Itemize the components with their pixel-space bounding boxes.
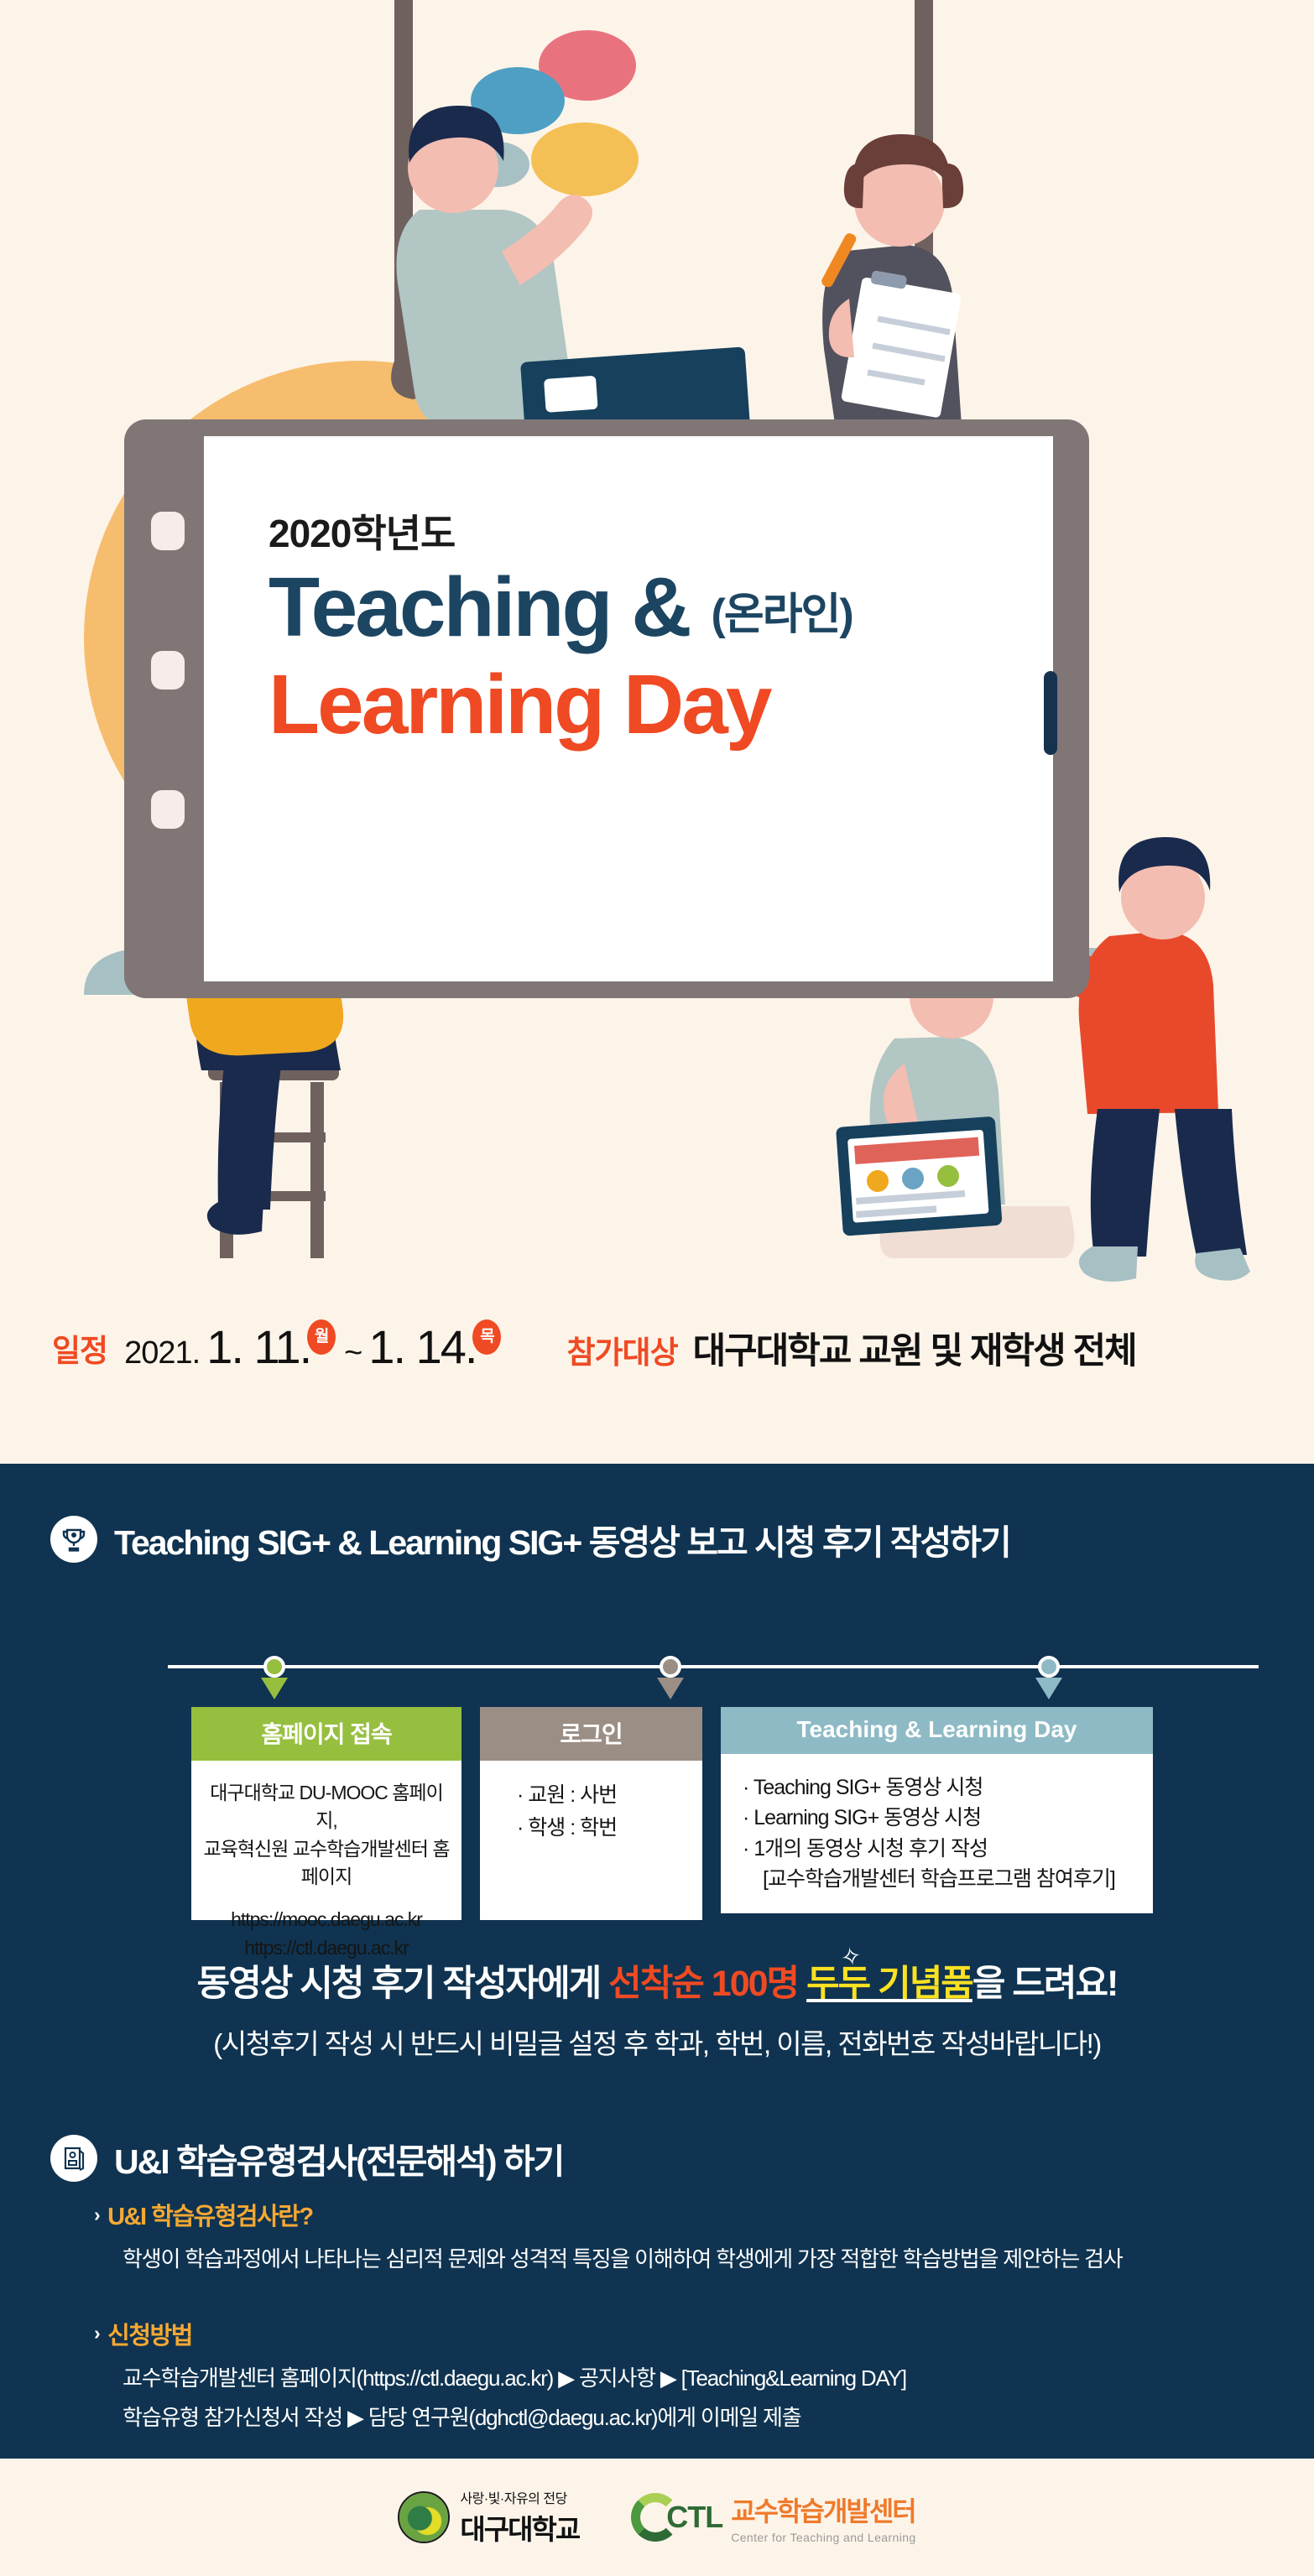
schedule-year: 2021. [124,1335,200,1371]
day-badge-end: 목 [472,1319,501,1355]
ctl-korean-name: 교수학습개발센터 [731,2490,915,2529]
gift-yellow-highlight: 두두 기념품 [806,1964,972,2004]
step-card-homepage: 홈페이지 접속 대구대학교 DU-MOOC 홈페이지, 교육혁신원 교수학습개발… [191,1707,461,1920]
university-name: 대구대학교 [460,2507,579,2547]
section-1-header: Teaching SIG+ & Learning SIG+ 동영상 보고 시청 … [0,1464,1314,1564]
ctl-english-name: Center for Teaching and Learning [731,2531,915,2544]
gift-banner: 동영상 시청 후기 작성자에게 선착순 100명 두두 기념품을 드려요! (시… [0,1954,1314,2062]
step-1-body: 대구대학교 DU-MOOC 홈페이지, 교육혁신원 교수학습개발센터 홈페이지 … [191,1761,461,1920]
step-dot-1 [263,1656,285,1678]
device-hole [151,512,185,550]
title-line-1: Teaching & [269,564,690,652]
info-bar: 일정 2021. 1. 11. 월 ~ 1. 14. 목 참가대상 대구대학교 … [0,1302,1314,1394]
footer-logos: 사랑·빛·자유의 전당 대구대학교 CTL 교수학습개발센터 Center fo… [0,2459,1314,2576]
date-range-separator: ~ [344,1335,362,1371]
ui-apply-heading-text: 신청방법 [107,2316,192,2351]
ui-apply-heading: › 신청방법 [94,2316,1314,2351]
hero-illustration-area: 2020학년도 Teaching & (온라인) Learning Day [0,0,1314,1464]
step-3-line-2: · Learning SIG+ 동영상 시청 [743,1803,1141,1833]
date-end: 1. 14. [368,1319,476,1374]
step-rail [168,1665,1259,1668]
audience-value: 대구대학교 교원 및 재학생 전체 [693,1322,1136,1374]
online-tag: (온라인) [712,579,853,652]
step-3-heading: Teaching & Learning Day [721,1707,1153,1754]
step-2-line-2: · 학생 : 학번 [517,1812,691,1845]
section-1-title: Teaching SIG+ & Learning SIG+ 동영상 보고 시청 … [114,1514,1010,1564]
audience-label: 참가대상 [566,1327,677,1372]
section-2: U&I 학습유형검사(전문해석) 하기 › U&I 학습유형검사란? 학생이 학… [0,2133,1314,2436]
step-3-body: · Teaching SIG+ 동영상 시청 · Learning SIG+ 동… [721,1754,1153,1913]
gift-orange-highlight: 선착순 100명 [608,1964,798,2004]
daegu-university-wordmark: 사랑·빛·자유의 전당 대구대학교 [460,2487,579,2547]
step-3-line-3: · 1개의 동영상 시청 후기 작성 [743,1834,1141,1864]
daegu-university-logo: 사랑·빛·자유의 전당 대구대학교 [398,2487,579,2547]
device-hole [151,790,185,829]
ui-definition-text: 학생이 학습과정에서 나타나는 심리적 문제와 성격적 특징을 이해하여 학생에… [94,2242,1314,2277]
step-dot-2 [660,1656,681,1678]
step-card-tl-day: Teaching & Learning Day · Teaching SIG+ … [721,1707,1153,1913]
ui-group-apply: › 신청방법 교수학습개발센터 홈페이지(https://ctl.daegu.a… [0,2303,1314,2436]
poster-root: 2020학년도 Teaching & (온라인) Learning Day 일정… [0,0,1314,2576]
step-card-login: 로그인 · 교원 : 사번 · 학생 : 학번 [480,1707,702,1920]
title-first-row: Teaching & (온라인) [269,564,1108,652]
ui-group-definition: › U&I 학습유형검사란? 학생이 학습과정에서 나타나는 심리적 문제와 성… [0,2183,1314,2277]
trophy-icon [50,1516,97,1563]
step-boxes: 홈페이지 접속 대구대학교 DU-MOOC 홈페이지, 교육혁신원 교수학습개발… [191,1707,1265,1920]
chevron-right-icon: › [94,2204,99,2226]
day-badge-start: 월 [307,1319,336,1355]
ctl-names: 교수학습개발센터 Center for Teaching and Learnin… [731,2490,915,2544]
section-1: Teaching SIG+ & Learning SIG+ 동영상 보고 시청 … [0,1464,1314,1564]
ui-definition-heading: › U&I 학습유형검사란? [94,2197,1314,2232]
step-3-subnote: [교수학습개발센터 학습프로그램 참여후기] [743,1864,1141,1894]
step-2-line-1: · 교원 : 사번 [517,1779,691,1812]
step-arrow-3 [1035,1678,1062,1699]
step-arrow-1 [261,1678,288,1699]
step-2-heading: 로그인 [480,1707,702,1761]
ctl-abbreviation: CTL [666,2500,722,2535]
step-2-body: · 교원 : 사번 · 학생 : 학번 [480,1761,702,1920]
gift-suffix: 을 드려요! [972,1964,1118,2004]
step-arrow-2 [657,1678,684,1699]
step-1-line-2: 교육혁신원 교수학습개발센터 홈페이지 [203,1835,450,1892]
gift-prefix: 동영상 시청 후기 작성자에게 [197,1964,609,2004]
ui-apply-line-1[interactable]: 교수학습개발센터 홈페이지(https://ctl.daegu.ac.kr) ▶… [94,2361,1314,2396]
ui-apply-line-2[interactable]: 학습유형 참가신청서 작성 ▶ 담당 연구원(dghctl@daegu.ac.k… [94,2401,1314,2436]
date-start: 1. 11. [206,1319,310,1374]
ui-definition-heading-text: U&I 학습유형검사란? [107,2197,312,2232]
section-2-header: U&I 학습유형검사(전문해석) 하기 [0,2133,1314,2183]
schedule-label: 일정 [52,1325,107,1371]
step-dot-3 [1038,1656,1060,1678]
chevron-right-icon: › [94,2322,99,2344]
daegu-university-emblem-icon [398,2491,450,2543]
gift-note: (시청후기 작성 시 반드시 비밀글 설정 후 학과, 학번, 이름, 전화번호… [0,2022,1314,2062]
title-block: 2020학년도 Teaching & (온라인) Learning Day [269,503,1108,753]
step-1-heading: 홈페이지 접속 [191,1707,461,1761]
university-tagline: 사랑·빛·자유의 전당 [460,2487,579,2507]
schedule-value: 2021. 1. 11. 월 ~ 1. 14. 목 [124,1319,503,1376]
step-1-line-1: 대구대학교 DU-MOOC 홈페이지, [203,1779,450,1835]
device-hole [151,651,185,690]
audience-group: 참가대상 대구대학교 교원 및 재학생 전체 [566,1322,1135,1374]
section-2-title: U&I 학습유형검사(전문해석) 하기 [114,2133,563,2183]
academic-year-label: 2020학년도 [269,503,1108,559]
step-3-line-1: · Teaching SIG+ 동영상 시청 [743,1772,1141,1803]
id-card-icon [50,2135,97,2182]
title-line-2: Learning Day [269,657,1108,753]
step-1-url-1[interactable]: https://mooc.daegu.ac.kr [203,1906,450,1933]
ctl-logo: CTL 교수학습개발센터 Center for Teaching and Lea… [631,2490,915,2544]
gift-headline: 동영상 시청 후기 작성자에게 선착순 100명 두두 기념품을 드려요! [0,1954,1314,2006]
